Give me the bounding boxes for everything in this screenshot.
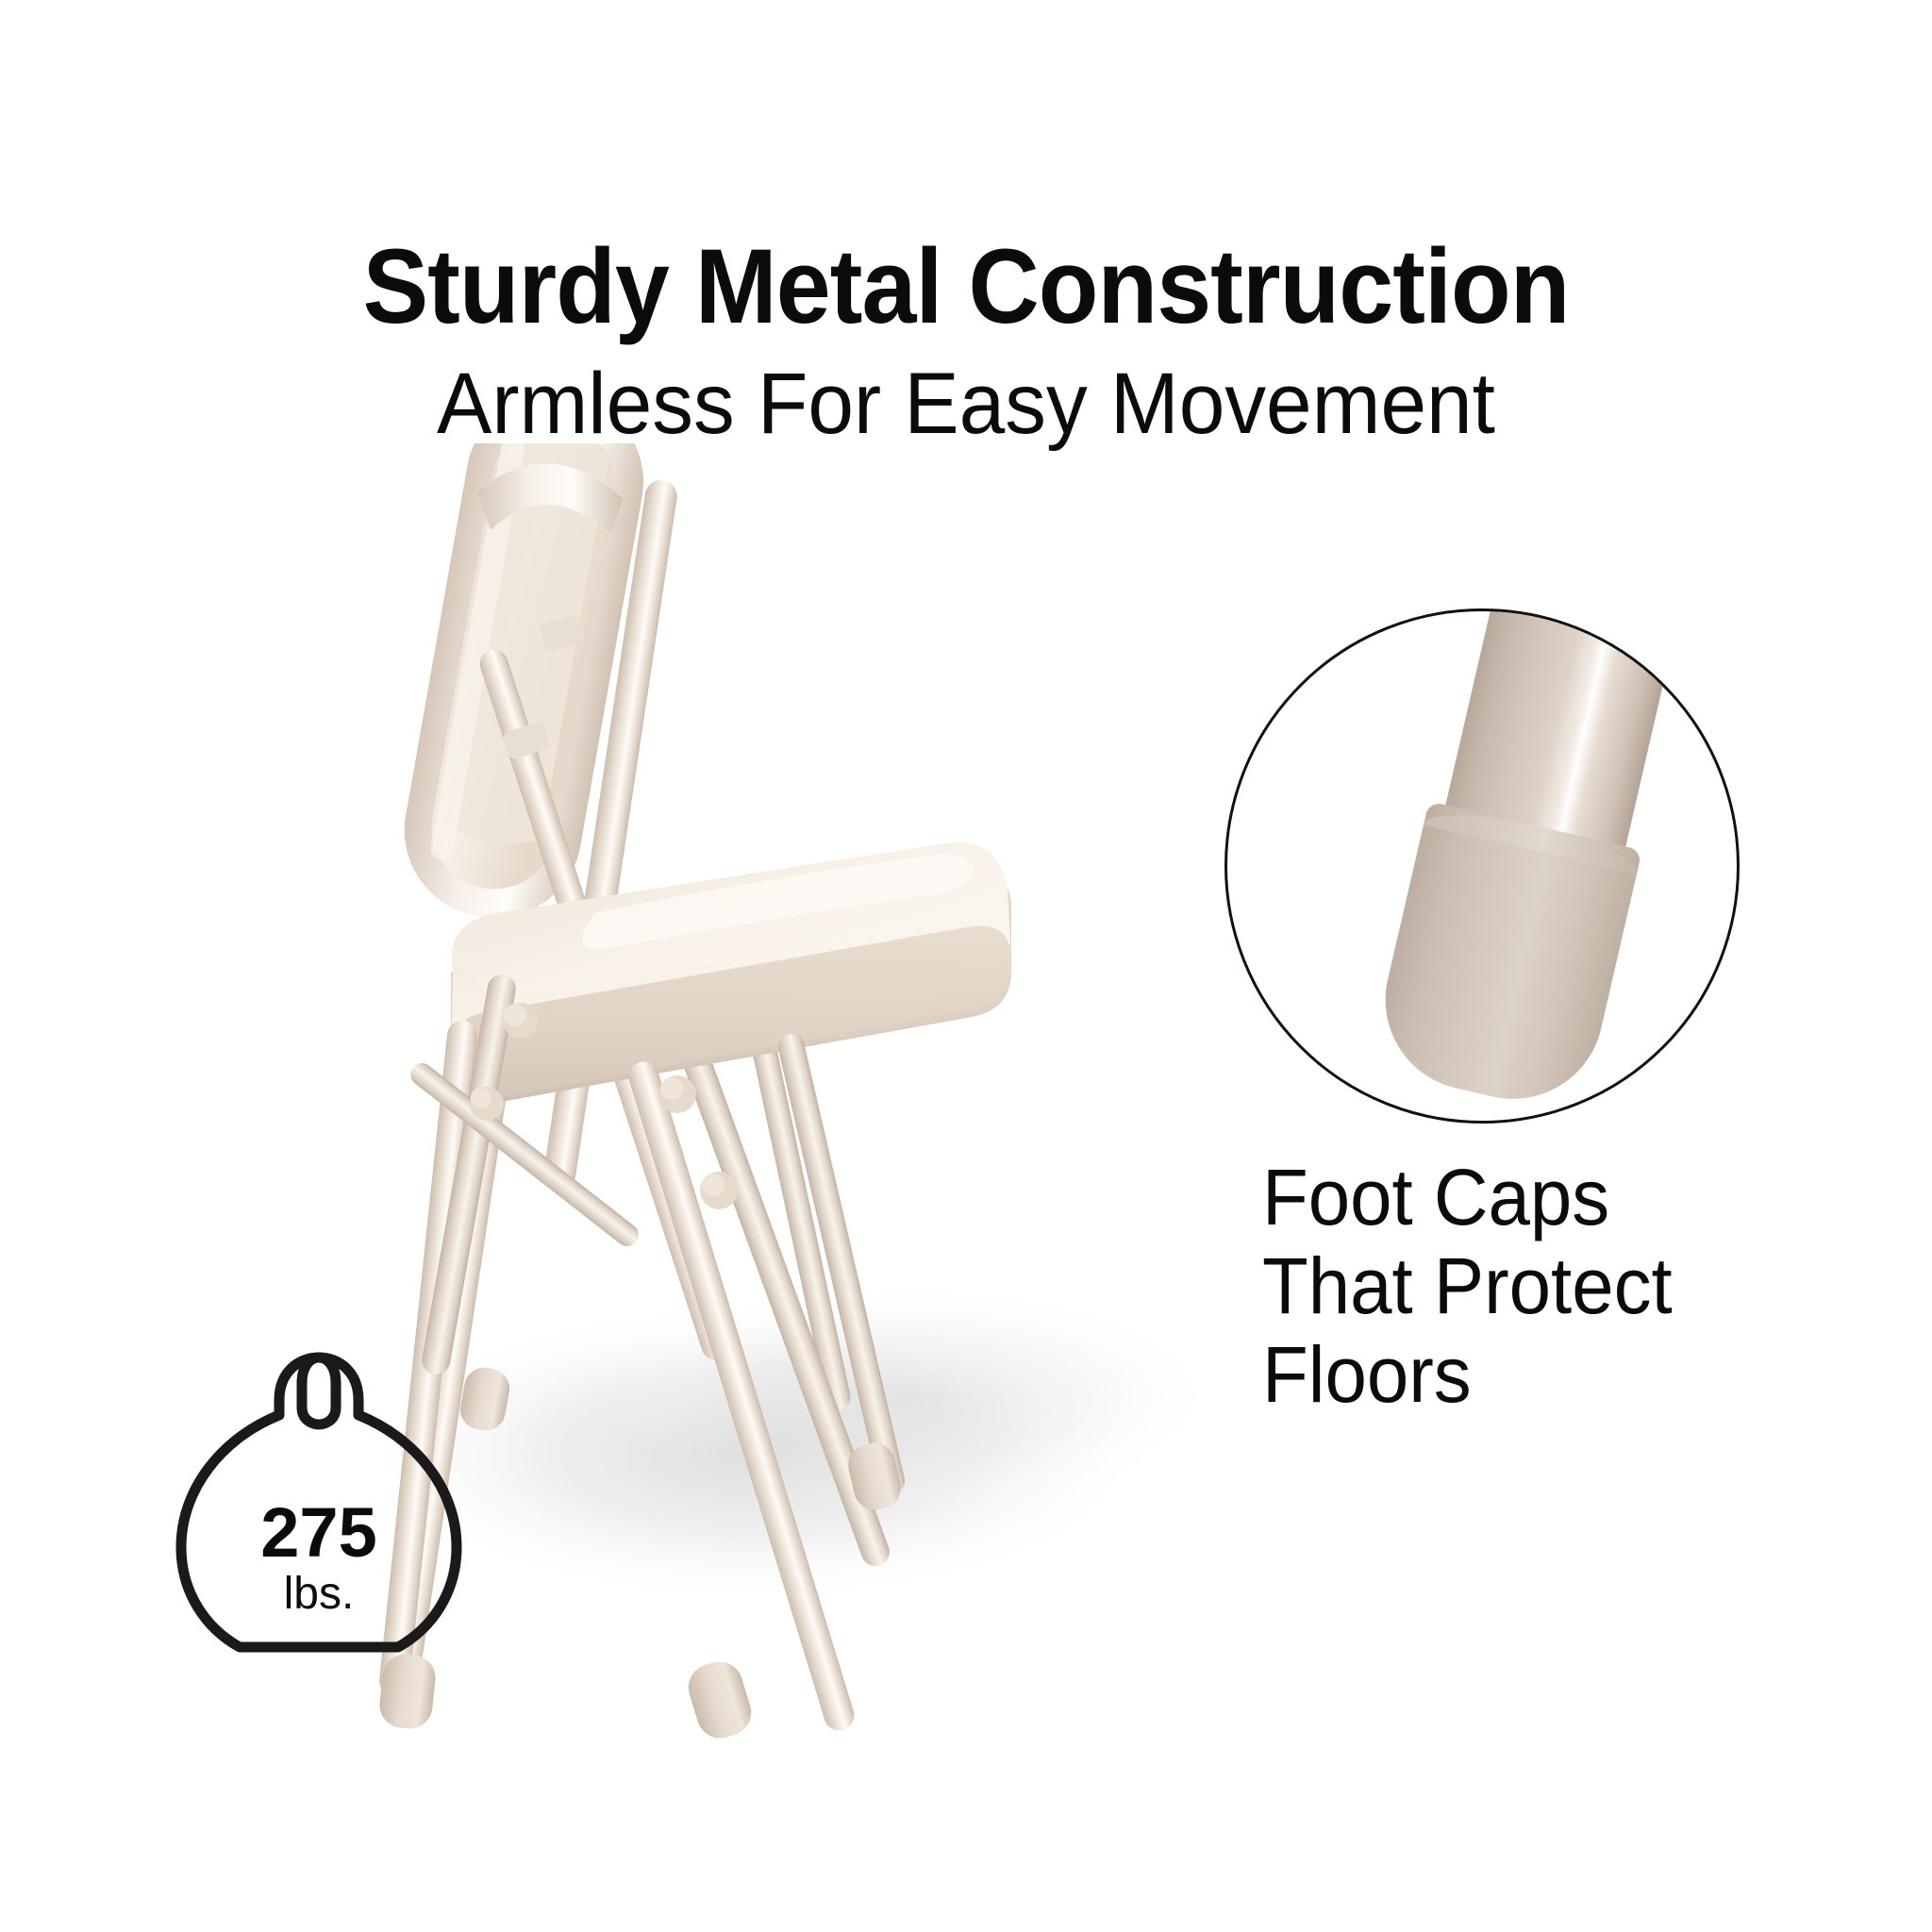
foot-cap-detail-circle — [1224, 608, 1740, 1124]
weight-capacity-badge: 275 lbs. — [168, 1309, 470, 1670]
weight-unit: lbs. — [168, 1572, 470, 1617]
heading-block: Sturdy Metal Construction Armless For Ea… — [0, 234, 1932, 447]
callout-line-2: That Protect — [1262, 1241, 1673, 1330]
weight-value: 275 — [168, 1498, 470, 1568]
page-subtitle: Armless For Easy Movement — [48, 360, 1884, 447]
callout-line-3: Floors — [1262, 1330, 1673, 1419]
callout-line-1: Foot Caps — [1262, 1153, 1673, 1241]
page-title: Sturdy Metal Construction — [68, 234, 1865, 340]
foot-caps-callout: Foot Caps That Protect Floors — [1262, 1153, 1673, 1419]
chair-leg-closeup — [1402, 608, 1701, 1038]
